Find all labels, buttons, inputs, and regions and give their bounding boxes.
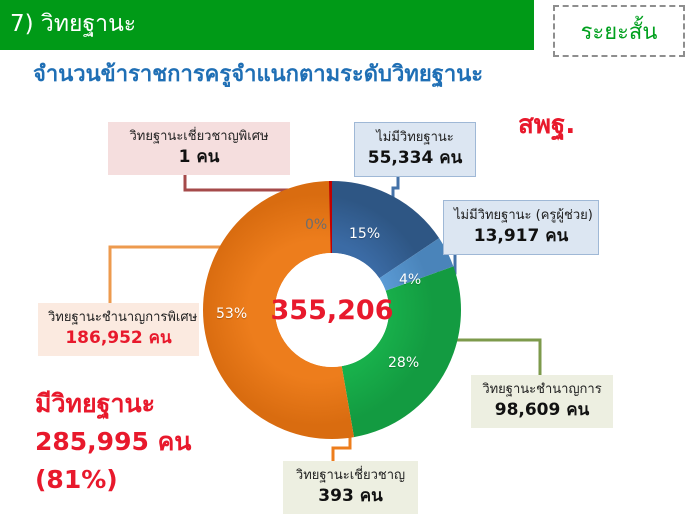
callout-expert-special-value: 1 คน bbox=[118, 146, 280, 168]
summary-line-1: มีวิทยฐานะ bbox=[35, 385, 255, 423]
callout-none-assistant-value: 13,917 คน bbox=[454, 225, 588, 247]
callout-none-title: ไม่มีวิทยฐานะ bbox=[365, 129, 465, 147]
summary-block: มีวิทยฐานะ 285,995 คน (81%) bbox=[35, 385, 255, 499]
callout-expert: วิทยฐานะเชี่ยวชาญ 393 คน bbox=[283, 461, 418, 514]
summary-line-2: 285,995 คน bbox=[35, 423, 255, 461]
callout-expert-value: 393 คน bbox=[293, 485, 408, 507]
callout-senior-title: วิทยฐานะชำนาญการ bbox=[481, 381, 603, 399]
slice-label-none-assistant: 4% bbox=[399, 272, 421, 288]
callout-none-assistant-title: ไม่มีวิทยฐานะ (ครูผู้ช่วย) bbox=[454, 207, 588, 225]
summary-line-3: (81%) bbox=[35, 461, 255, 499]
slice-label-expert-special: 0% bbox=[305, 217, 327, 233]
callout-senior-special-value: 186,952 คน bbox=[48, 327, 189, 349]
page-title: 7) วิทยฐานะ bbox=[10, 8, 136, 40]
callout-senior-value: 98,609 คน bbox=[481, 399, 603, 421]
callout-senior-special-title: วิทยฐานะชำนาญการพิเศษ bbox=[48, 309, 189, 327]
slice-label-senior-special: 53% bbox=[216, 306, 247, 322]
slice-label-none: 15% bbox=[349, 226, 380, 242]
callout-expert-special-title: วิทยฐานะเชี่ยวชาญพิเศษ bbox=[118, 128, 280, 146]
chart-subtitle: จำนวนข้าราชการครูจำแนกตามระดับวิทยฐานะ bbox=[33, 56, 483, 91]
callout-senior: วิทยฐานะชำนาญการ 98,609 คน bbox=[471, 375, 613, 428]
donut-hole bbox=[275, 253, 389, 367]
callout-expert-title: วิทยฐานะเชี่ยวชาญ bbox=[293, 467, 408, 485]
organization-mark: สพฐ. bbox=[518, 104, 575, 145]
callout-none-assistant: ไม่มีวิทยฐานะ (ครูผู้ช่วย) 13,917 คน bbox=[443, 200, 599, 255]
callout-senior-special: วิทยฐานะชำนาญการพิเศษ 186,952 คน bbox=[38, 303, 199, 356]
timeframe-badge: ระยะสั้น bbox=[553, 5, 685, 57]
slide-canvas: 7) วิทยฐานะ ระยะสั้น จำนวนข้าราชการครูจำ… bbox=[0, 0, 700, 524]
callout-none-value: 55,334 คน bbox=[365, 147, 465, 169]
timeframe-badge-label: ระยะสั้น bbox=[581, 14, 658, 49]
slice-label-senior: 28% bbox=[388, 355, 419, 371]
callout-expert-special: วิทยฐานะเชี่ยวชาญพิเศษ 1 คน bbox=[108, 122, 290, 175]
callout-none: ไม่มีวิทยฐานะ 55,334 คน bbox=[354, 122, 476, 177]
